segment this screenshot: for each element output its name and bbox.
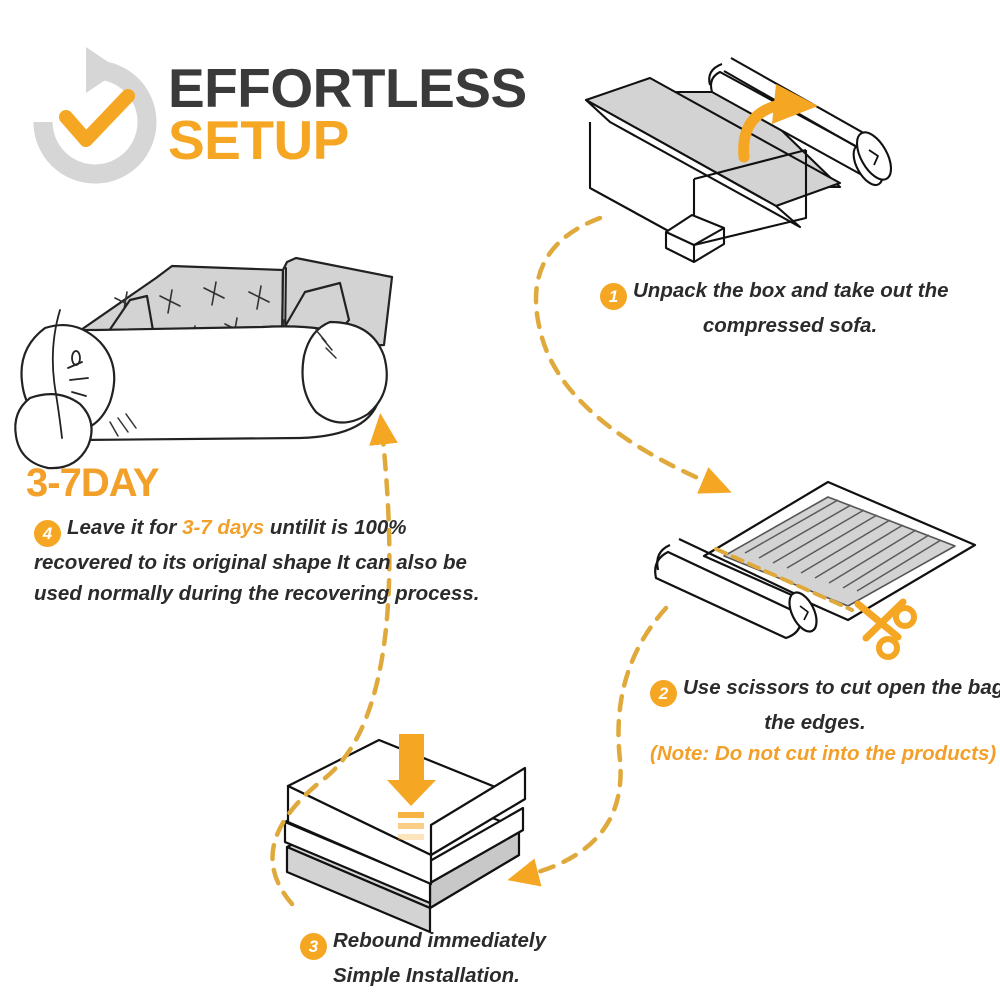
step-1-text: 1Unpack the box and take out the compres… — [600, 275, 980, 341]
step-2-line-1: Use scissors to cut open the bag along — [683, 676, 1000, 699]
step-4-line-1-post: untilit is 100% — [264, 516, 406, 539]
step-4-line-2: recovered to its original shape It can a… — [34, 547, 414, 578]
step-3-line-2: Simple Installation. — [300, 960, 560, 991]
arrow-step1-to-step2 — [536, 218, 716, 486]
day-heading: 3-7DAY — [26, 461, 159, 506]
step-4-line-3: used normally during the recovering proc… — [34, 578, 414, 609]
step-3-line-1: Rebound immediately — [333, 929, 546, 952]
step-3-text: 3Rebound immediately Simple Installation… — [300, 925, 560, 991]
step-2-note: (Note: Do not cut into the products) — [650, 738, 980, 769]
step-4-badge: 4 — [34, 520, 61, 547]
step-2-line-2: the edges. — [650, 707, 980, 738]
step-4-line-1-pre: Leave it for — [67, 516, 182, 539]
arrow-step2-to-step3 — [524, 608, 666, 876]
cardboard-box-with-rolled-sofa-illustration — [586, 58, 898, 262]
title-line-2: SETUP — [168, 114, 588, 166]
step-2-badge: 2 — [650, 680, 677, 707]
expanding-cushion-stack-illustration — [285, 729, 525, 932]
vacuum-bag-with-scissors-illustration — [655, 482, 975, 657]
refresh-check-icon — [43, 47, 147, 174]
page-title: EFFORTLESS SETUP — [168, 62, 588, 167]
scissors-icon — [858, 602, 914, 657]
infographic-canvas: EFFORTLESS SETUP 3-7DAY 1Unpack the box … — [0, 0, 1000, 1000]
step-4-days-highlight: 3-7 days — [182, 516, 264, 539]
step-4-text: 4Leave it for 3-7 days untilit is 100% r… — [34, 512, 414, 609]
step-1-badge: 1 — [600, 283, 627, 310]
step-2-text: 2Use scissors to cut open the bag along … — [650, 672, 980, 769]
step-3-badge: 3 — [300, 933, 327, 960]
finished-sofa-illustration — [15, 258, 392, 468]
step-1-line-2: compressed sofa. — [600, 310, 980, 341]
title-line-1: EFFORTLESS — [168, 62, 588, 114]
step-1-line-1: Unpack the box and take out the — [633, 279, 949, 302]
